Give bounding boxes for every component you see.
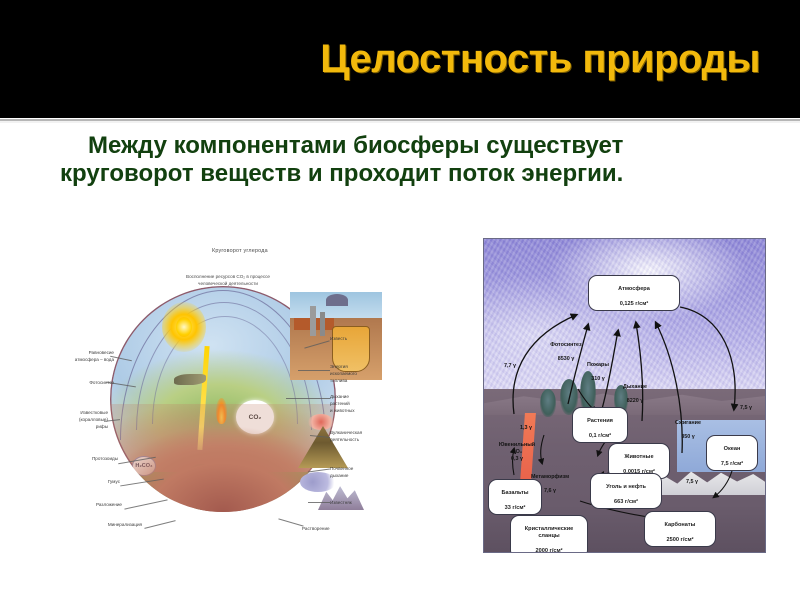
reservoir-coal-and-oil: Уголь и нефть 663 г/см² — [590, 473, 662, 509]
reservoir-plants: Растения 0,1 г/см² — [572, 407, 628, 443]
label-volcanic-activity: Вулканическая деятельность — [330, 430, 378, 444]
slide-body-text: Между компонентами биосферы существует к… — [60, 132, 720, 189]
leader-line-7 — [144, 520, 175, 529]
flux-metamorphism-value: 7,6 γ — [544, 488, 556, 494]
n2-bubble: N₂ — [166, 476, 190, 496]
label-limestone: Известняк — [330, 500, 374, 507]
leader-line-13 — [308, 502, 330, 503]
flux-burning-value: 350 γ — [681, 434, 695, 440]
flux-respiration-label: Дыхание — [623, 384, 647, 390]
flux-respiration-value: 8220 γ — [627, 398, 644, 404]
flux-plant-to-soil-value: 1,3 γ — [514, 425, 538, 432]
label-fossil-fuel-energy: Энергия ископаемого топлива — [330, 364, 378, 385]
soil-horizon-line — [168, 499, 272, 504]
flux-burning: Сжигание 350 γ — [666, 413, 710, 441]
reservoir-crystalline-schist: Кристаллические сланцы 2000 г/см² — [510, 515, 588, 553]
flux-respiration: Дыхание 8220 γ — [614, 377, 656, 405]
reservoir-animals-label: Животные — [624, 454, 653, 460]
flux-juvenile-co2-label: Ювенильный CO₂ — [499, 442, 535, 455]
sun-icon — [162, 302, 206, 352]
reservoir-crystalline-schist-label: Кристаллические сланцы — [525, 526, 574, 540]
figure-left-caption: Круговорот углерода — [212, 248, 268, 254]
flux-photosynthesis-label: Фотосинтез — [550, 342, 581, 348]
label-lime: Известь — [330, 336, 376, 343]
reservoir-carbonates-value: 2500 г/см² — [667, 537, 694, 543]
reservoir-basalts-value: 33 г/см² — [505, 505, 526, 511]
label-atmosphere-water-equilibrium: Равновесие атмосфера – вода — [62, 350, 114, 364]
flux-fires-value: 310 γ — [591, 376, 605, 382]
storage-dome — [326, 294, 348, 306]
reservoir-coal-and-oil-label: Уголь и нефть — [606, 484, 646, 490]
reservoir-crystalline-schist-value: 2000 г/см² — [536, 548, 563, 553]
flux-ocean-uptake-value: 7,5 γ — [734, 405, 758, 412]
label-soil-respiration: Почвенное дыхание — [330, 466, 376, 480]
flame-icon — [216, 398, 227, 424]
reservoir-plants-value: 0,1 г/см² — [589, 433, 611, 439]
leader-line-10 — [286, 398, 330, 399]
flux-burning-label: Сжигание — [675, 420, 701, 426]
label-decomposition: Разложение — [74, 502, 122, 509]
figure-carbon-cycle: Круговорот углерода Восполнение ресурсов… — [62, 234, 377, 556]
page-title: Целостность природы — [320, 37, 800, 82]
label-mineralization: Минерализация — [88, 522, 142, 529]
flux-fires-label: Пожары — [587, 362, 609, 368]
reservoir-ocean: Океан 7,5 г/см² — [706, 435, 758, 471]
label-coral-reefs: Известковые (коралловые) рифы — [62, 410, 108, 431]
label-humus: Гумус — [84, 479, 120, 486]
reservoir-plants-label: Растения — [587, 418, 613, 424]
flux-metamorphism-label: Метаморфизм — [531, 474, 569, 480]
co2-center-label: CO₂ — [238, 402, 272, 432]
flux-fires: Пожары 310 γ — [578, 355, 618, 383]
flux-photosynthesis-value: 8530 γ — [558, 356, 575, 362]
title-divider — [0, 118, 800, 123]
volcano-plume — [308, 414, 334, 430]
label-plant-animal-respiration: Дыхание растений и животных — [330, 394, 378, 415]
slide-title-bar: Целостность природы — [0, 0, 800, 118]
tree-icon — [182, 464, 222, 510]
flux-ocean-sediment-value: 7,5 γ — [680, 479, 704, 486]
reservoir-carbonates: Карбонаты 2500 г/см² — [644, 511, 716, 547]
reservoir-ocean-value: 7,5 г/см² — [721, 461, 743, 467]
flux-volcanic-outgassing-value: 7,7 γ — [498, 363, 522, 370]
figures-area: Круговорот углерода Восполнение ресурсов… — [0, 228, 800, 568]
reservoir-carbonates-label: Карбонаты — [665, 522, 696, 528]
animal-icon — [242, 482, 262, 493]
reservoir-coal-and-oil-value: 663 г/см² — [614, 499, 638, 505]
fossil-fish-icon — [174, 374, 206, 385]
label-dissolution: Растворение — [302, 526, 356, 533]
reservoir-ocean-label: Океан — [724, 446, 741, 452]
leader-line-9 — [298, 370, 330, 371]
flux-juvenile-co2: Ювенильный CO₂ 0,3 γ — [486, 435, 548, 463]
reservoir-atmosphere-value: 0,125 г/см² — [620, 301, 649, 307]
sun-core — [176, 317, 192, 337]
flux-metamorphism: Метаморфизм 7,6 γ — [524, 467, 576, 495]
label-protozoa: Протозоиды — [72, 456, 118, 463]
leader-line-14 — [278, 518, 303, 526]
smokestack-2 — [320, 312, 325, 336]
flux-juvenile-co2-value: 0,3 γ — [511, 456, 523, 462]
smokestack-1 — [310, 306, 316, 336]
reservoir-atmosphere-label: Атмосфера — [618, 286, 650, 292]
figure-carbon-budget: Атмосфера 0,125 г/см² Растения 0,1 г/см²… — [483, 238, 766, 553]
reservoir-atmosphere: Атмосфера 0,125 г/см² — [588, 275, 680, 311]
